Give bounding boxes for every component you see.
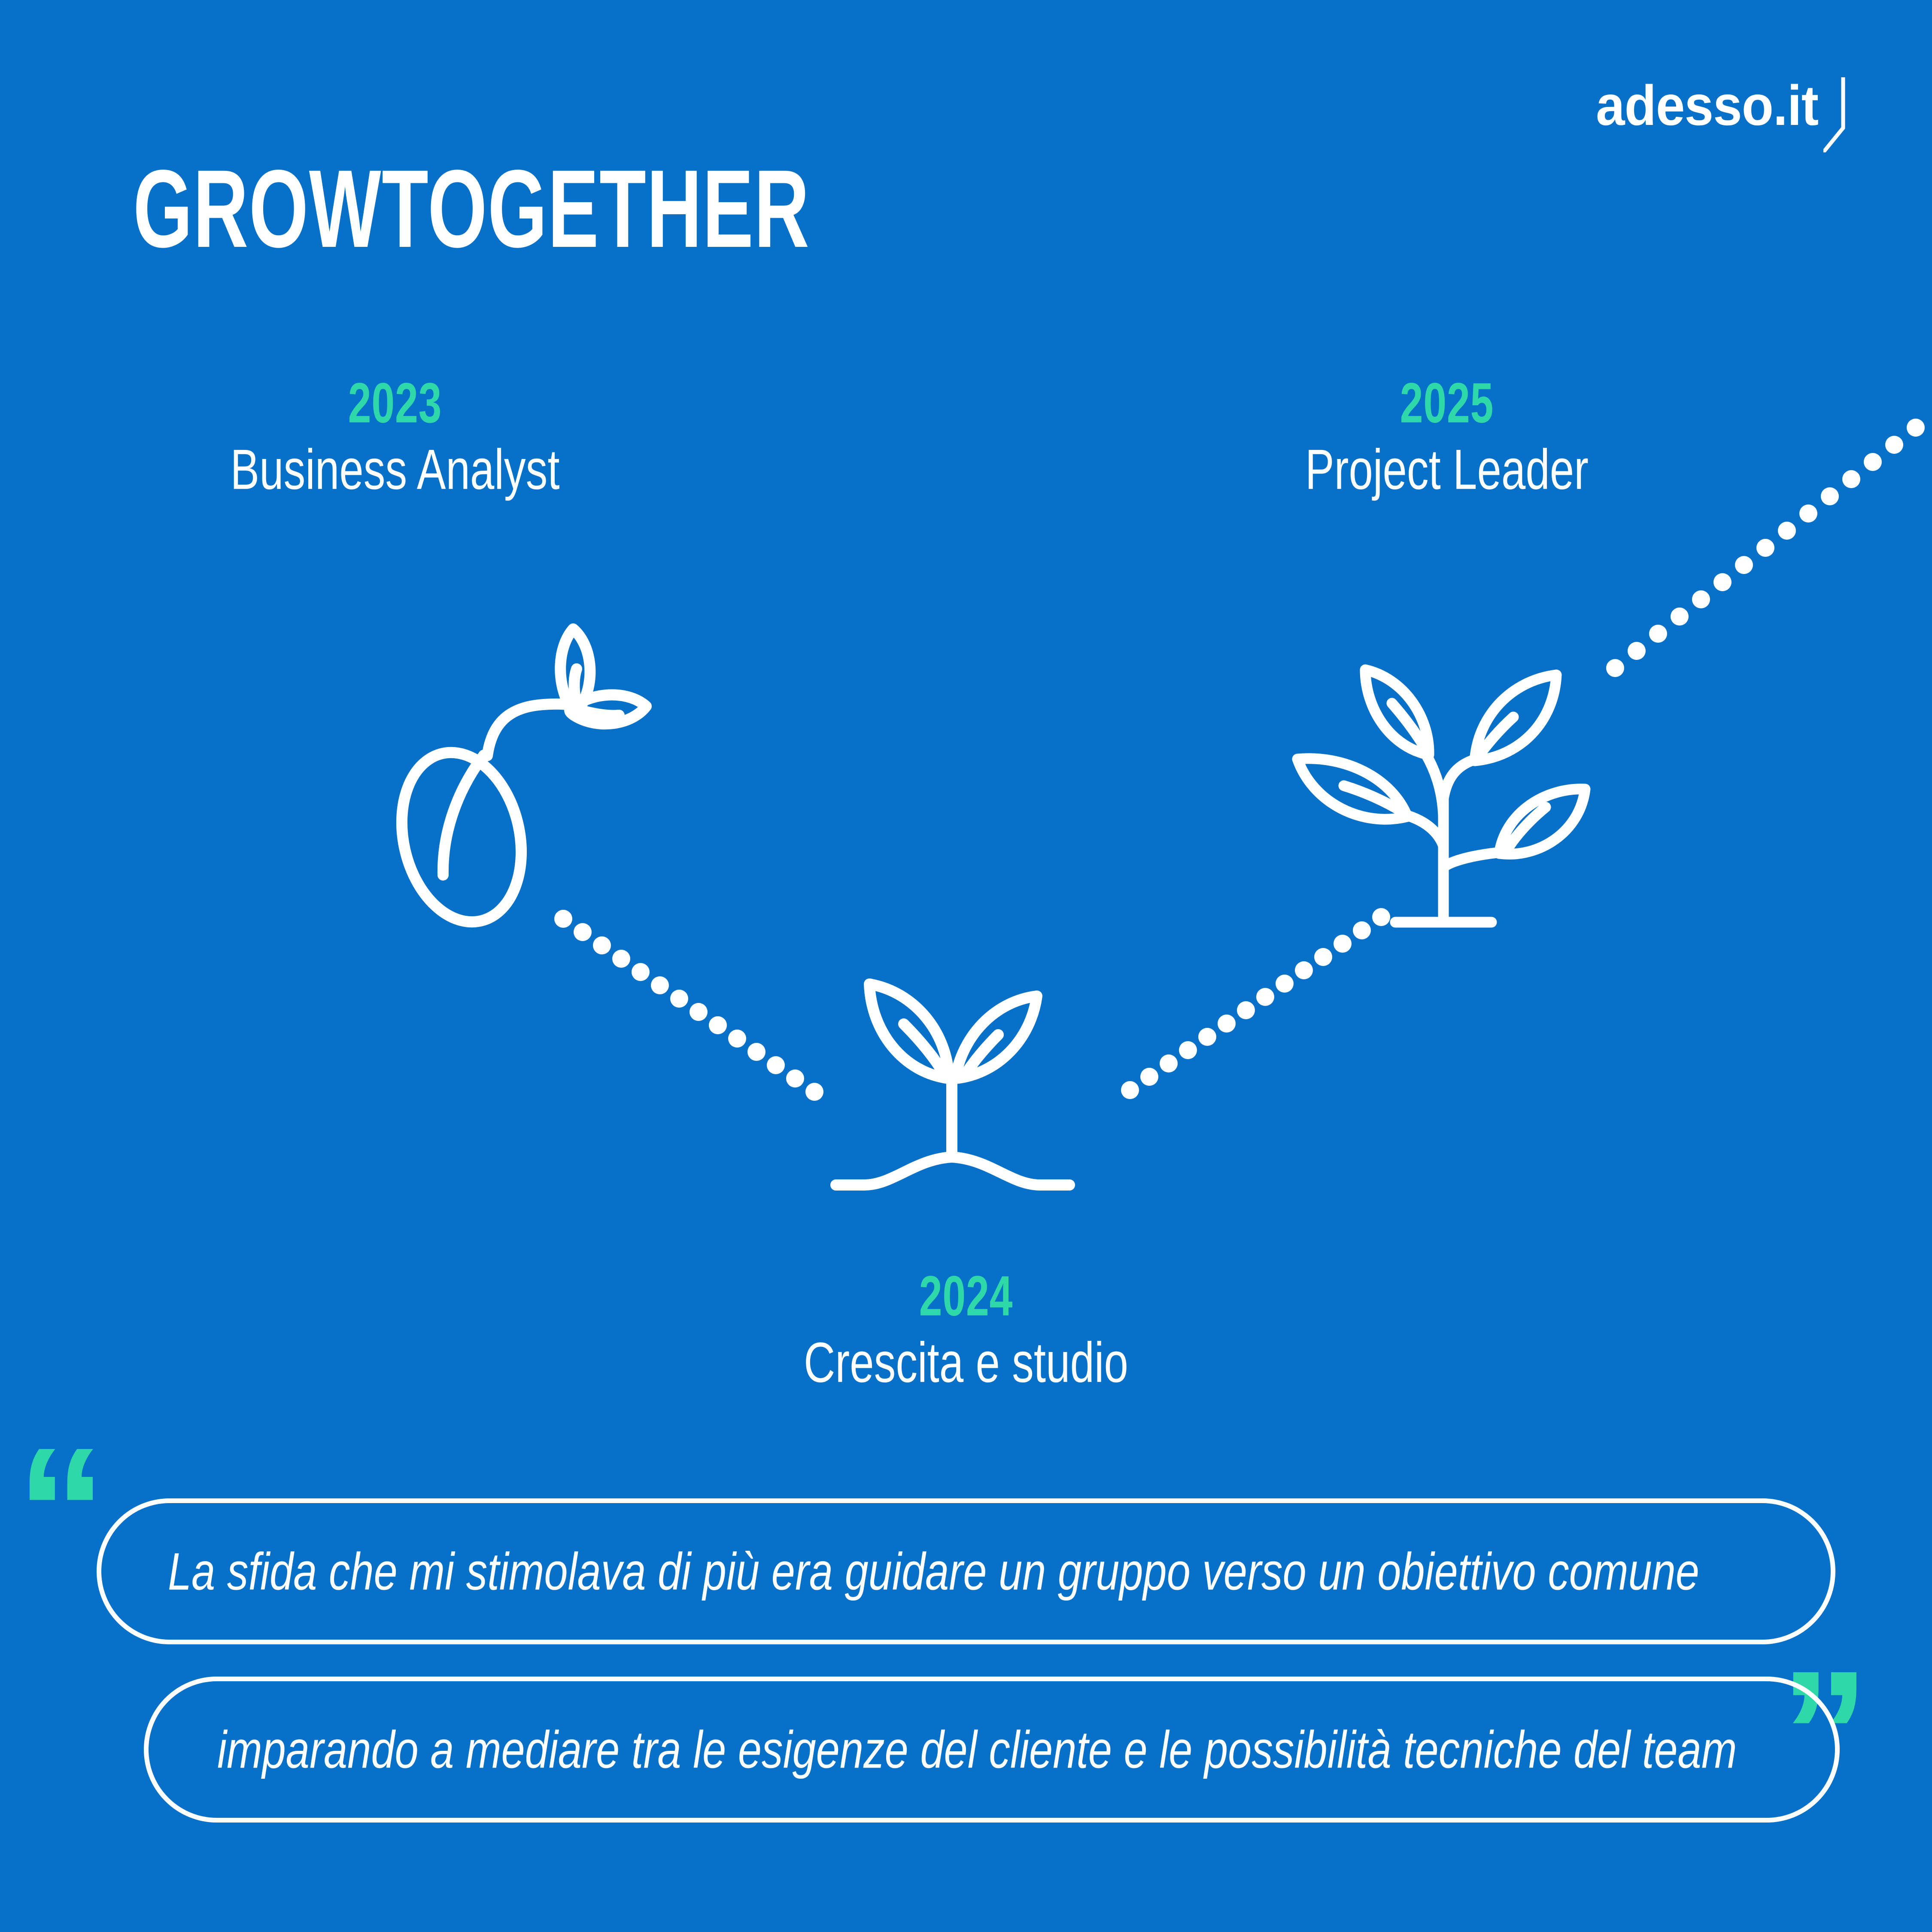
quote-line-2-pill: imparando a mediare tra le esigenze del … — [144, 1677, 1840, 1823]
milestone-2025-year: 2025 — [1211, 375, 1683, 431]
poster-canvas: adesso.it GROWTOGETHER 2023 Business Ana… — [0, 0, 1932, 1932]
milestone-2023: 2023 Business Analyst — [103, 378, 687, 498]
milestone-2024-role: Crescita e studio — [719, 1331, 1213, 1394]
quote-line-2-text: imparando a mediare tra le esigenze del … — [217, 1723, 1737, 1776]
growing-plant-four-leaves-icon — [1279, 644, 1606, 970]
milestone-2023-role: Business Analyst — [144, 438, 646, 501]
milestone-2023-year: 2023 — [155, 375, 634, 431]
brand-logo: adesso.it — [1577, 77, 1848, 152]
quote-line-1-text: La sfida che mi stimolava di più era gui… — [168, 1545, 1699, 1598]
milestone-2024: 2024 Crescita e studio — [678, 1271, 1254, 1391]
milestone-2024-year: 2024 — [730, 1268, 1202, 1324]
brand-logo-text: adesso.it — [1596, 77, 1818, 134]
milestone-2025-role: Project Leader — [1200, 438, 1694, 501]
milestone-2025: 2025 Project Leader — [1159, 378, 1735, 498]
page-title: GROWTOGETHER — [133, 154, 810, 264]
logo-swoosh-icon — [1823, 77, 1848, 152]
seed-sprouting-icon — [378, 605, 661, 945]
quote-open-mark: “ — [16, 1421, 101, 1601]
seedling-two-leaves-icon — [826, 957, 1080, 1215]
quote-line-1-pill: La sfida che mi stimolava di più era gui… — [97, 1498, 1835, 1644]
